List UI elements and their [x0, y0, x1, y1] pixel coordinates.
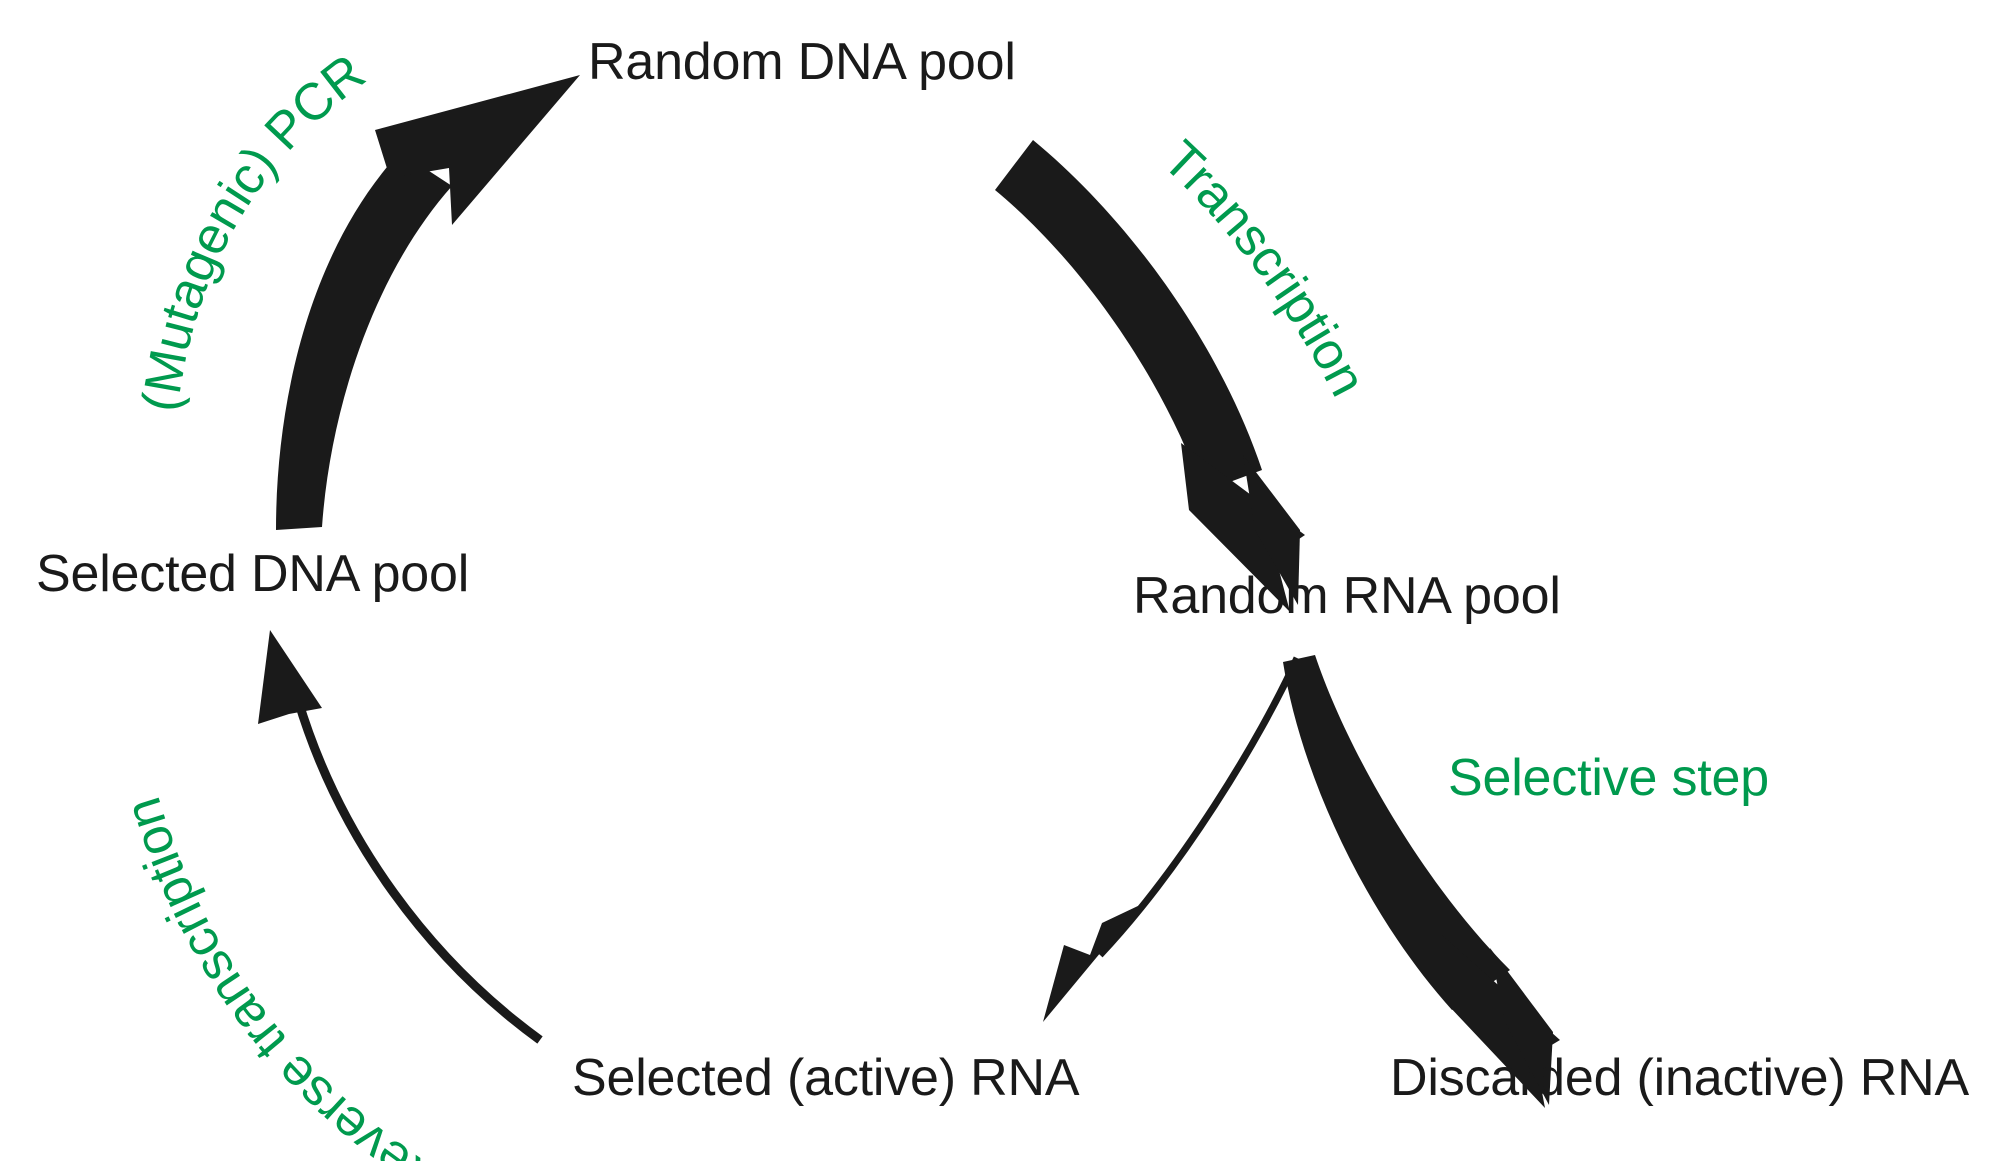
process-label-selective-step: Selective step [1448, 752, 1769, 804]
node-label-discarded-rna: Discarded (inactive) RNA [1390, 1052, 1969, 1104]
arrow-random-rna-to-selected-rna [1043, 658, 1297, 1022]
node-label-random-dna-pool: Random DNA pool [588, 36, 1016, 88]
node-label-selected-rna: Selected (active) RNA [572, 1052, 1079, 1104]
node-label-selected-dna-pool: Selected DNA pool [36, 548, 469, 600]
arrow-selective-step [1283, 655, 1560, 1108]
arrow-reverse-transcription [258, 630, 540, 1040]
diagram-canvas: (Mutagenic) PCR Transcription Reverse tr… [0, 0, 2002, 1161]
process-label-reverse-transcription-text: Reverse transcription [114, 791, 452, 1161]
process-label-reverse-transcription: Reverse transcription [114, 791, 452, 1161]
node-label-random-rna-pool: Random RNA pool [1133, 570, 1561, 622]
arrow-mutagenic-pcr [276, 75, 580, 530]
